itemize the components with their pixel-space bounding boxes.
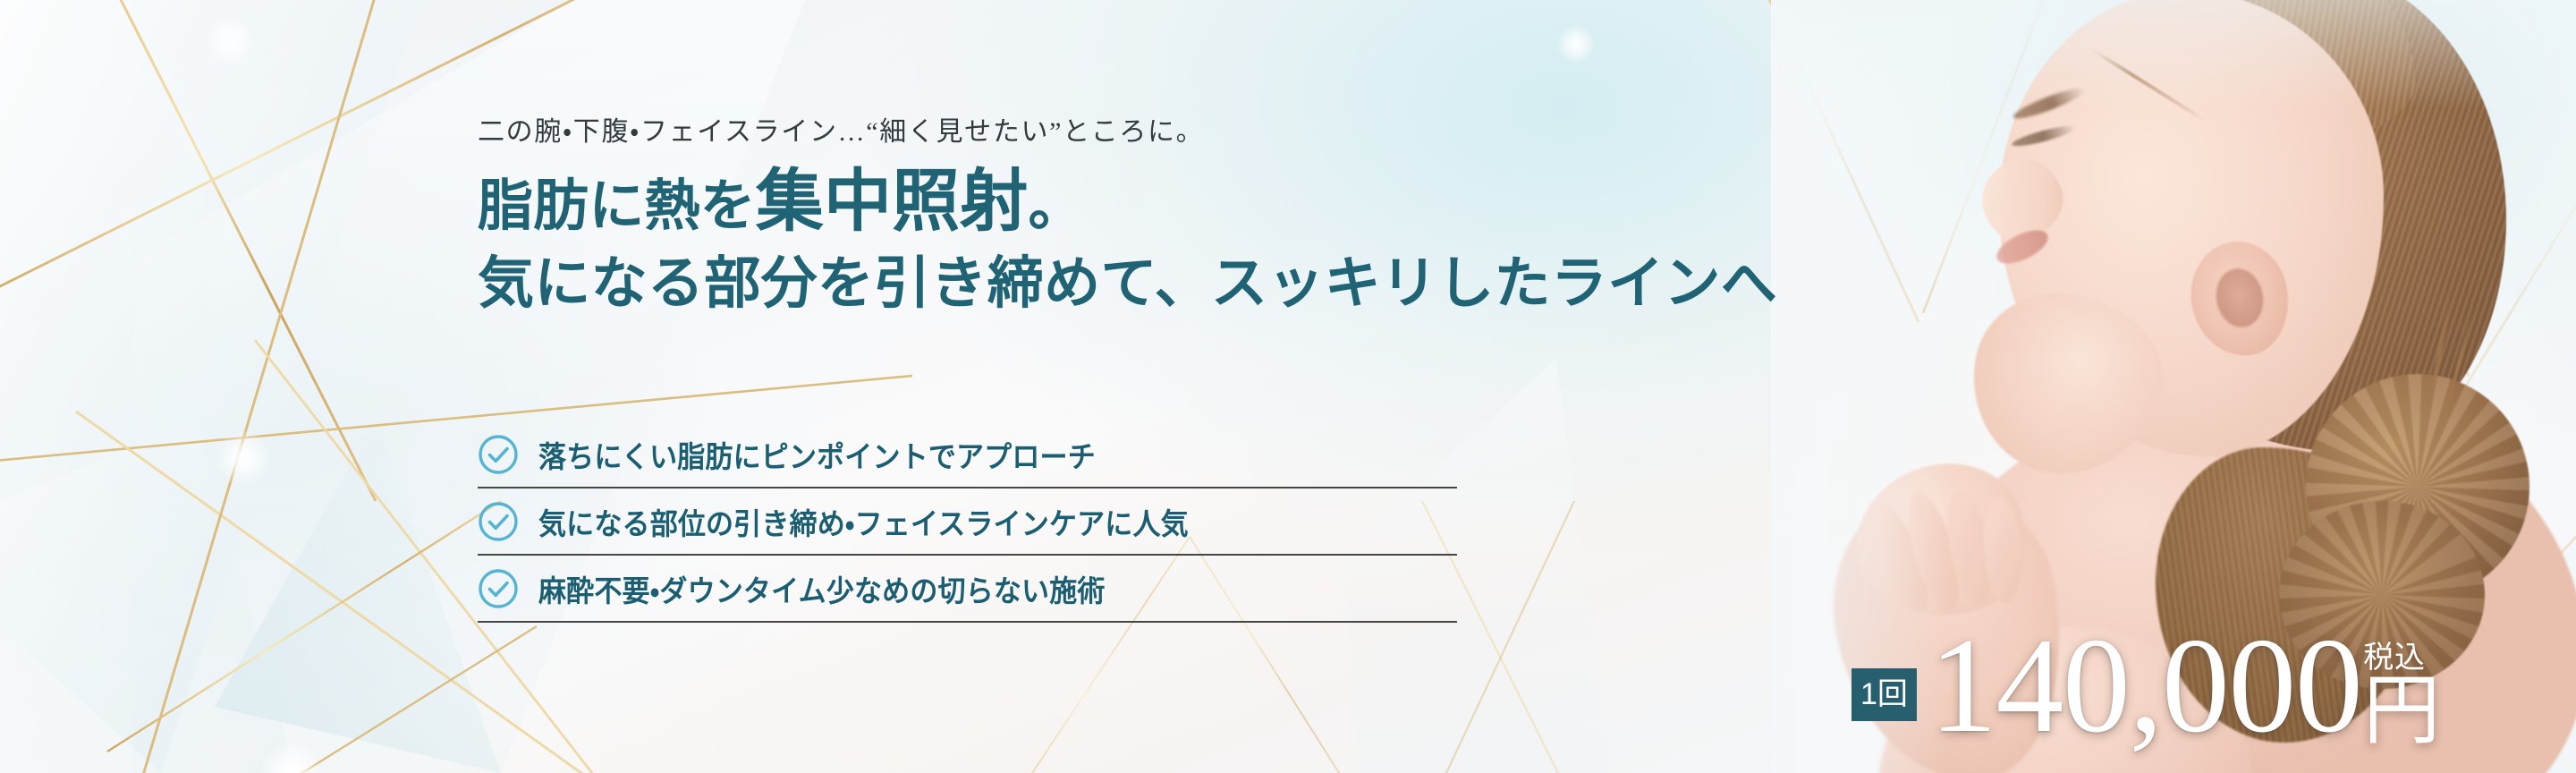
model-finger <box>1860 497 1940 618</box>
feature-item: 落ちにくい脂肪にピンポイントでアプローチ <box>478 421 1457 487</box>
sparkle-glint <box>259 741 322 773</box>
price-amount: 140,000 <box>1929 626 2361 746</box>
headline-line-1-small-a: 脂肪に熱を <box>478 176 756 237</box>
feature-divider <box>478 487 1457 488</box>
model-hair-bun <box>2306 374 2529 599</box>
headline-line-1-emphasis: 集中照射 <box>756 165 1029 240</box>
feature-label: 落ちにくい脂肪にピンポイントでアプローチ <box>538 433 1096 476</box>
check-circle-icon <box>478 501 519 542</box>
feature-item: 麻酔不要・ダウンタイム少なめの切らない施術 <box>478 556 1457 621</box>
headline: 脂肪に熱を集中照射。 気になる部分を引き締めて、スッキリしたラインへ <box>478 168 1676 312</box>
check-circle-icon <box>478 434 519 475</box>
feature-label: 気になる部位の引き締め・フェイスラインケアに人気 <box>538 500 1189 543</box>
headline-line-1-small-b: 。 <box>1028 176 1083 237</box>
model-hair-strand <box>2090 48 2206 123</box>
model-ear-inner <box>2212 265 2268 331</box>
sparkle-glint <box>1556 25 1596 64</box>
model-hair-crown <box>2093 0 2415 152</box>
headline-line-1: 脂肪に熱を集中照射。 <box>478 168 1676 236</box>
eyebrow-text: 二の腕・下腹・フェイスライン…“細く見せたい”ところに。 <box>478 109 1676 149</box>
model-finger <box>1940 486 1999 609</box>
headline-line-2: 気になる部分を引き締めて、スッキリしたラインへ <box>478 256 1676 312</box>
model-hair-strand <box>2434 310 2474 450</box>
model-lips <box>1992 224 2053 270</box>
model-finger <box>1898 488 1970 617</box>
model-nose <box>1970 147 2074 251</box>
copy-block: 二の腕・下腹・フェイスライン…“細く見せたい”ところに。 脂肪に熱を集中照射。 … <box>478 109 1676 312</box>
model-hair-strand <box>2418 296 2453 455</box>
price-currency: 円 <box>2363 675 2440 746</box>
feature-label: 麻酔不要・ダウンタイム少なめの切らない施術 <box>538 567 1106 610</box>
model-eyebrow <box>2011 83 2088 123</box>
model-hand <box>1838 445 2043 638</box>
feature-list: 落ちにくい脂肪にピンポイントでアプローチ 気になる部位の引き締め・フェイスライン… <box>478 421 1457 623</box>
feature-divider <box>478 554 1457 556</box>
model-finger <box>1980 497 2025 605</box>
price-suffix: 税込 円 <box>2363 643 2440 746</box>
feature-divider <box>478 621 1457 623</box>
hero-banner: 二の腕・下腹・フェイスライン…“細く見せたい”ところに。 脂肪に熱を集中照射。 … <box>0 0 2576 773</box>
model-chin <box>1956 277 2177 491</box>
model-head <box>1999 0 2384 456</box>
sparkle-glint <box>215 429 272 487</box>
price-block: 1回 140,000 税込 円 <box>1851 626 2440 746</box>
model-eye <box>2011 123 2078 150</box>
price-session-badge: 1回 <box>1851 668 1917 721</box>
check-circle-icon <box>478 568 519 609</box>
feature-item: 気になる部位の引き締め・フェイスラインケアに人気 <box>478 488 1457 554</box>
model-hair <box>2086 0 2506 452</box>
model-ear <box>2184 235 2296 362</box>
sparkle-glint <box>206 16 256 66</box>
